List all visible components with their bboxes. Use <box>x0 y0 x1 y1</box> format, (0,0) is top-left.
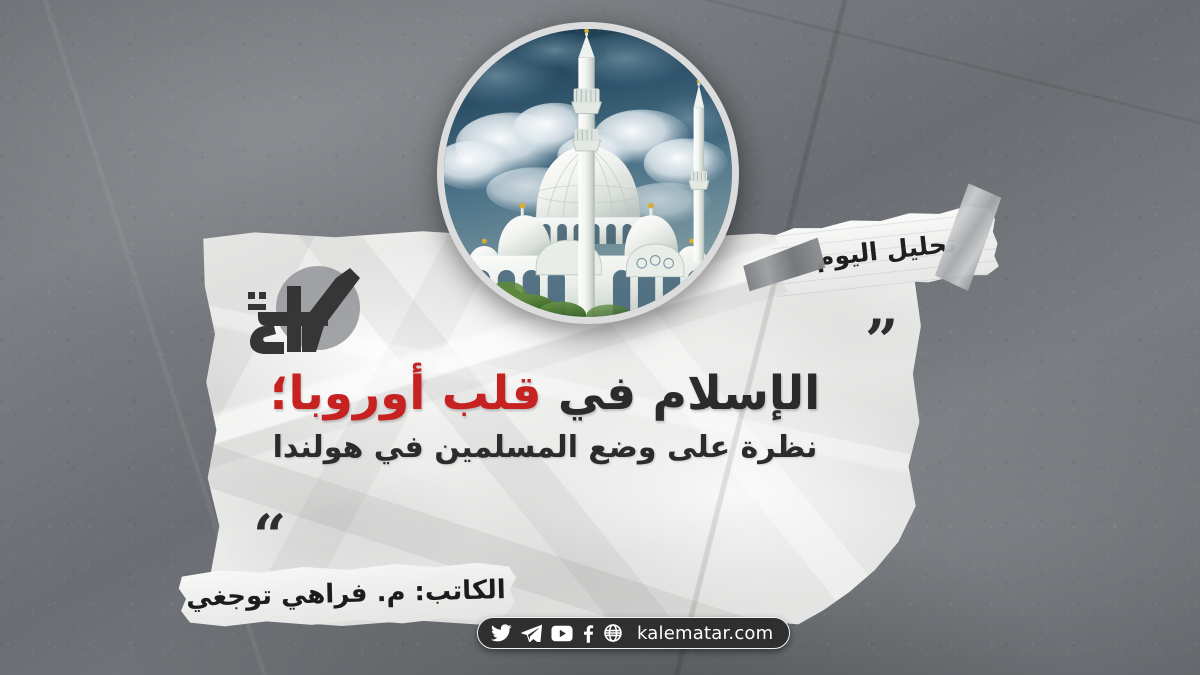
youtube-icon[interactable] <box>551 625 573 642</box>
author-byline-label: الكاتب: م. فراهي توجغي <box>171 558 521 632</box>
headline-part-accent: قلب أوروبا؛ <box>270 366 542 421</box>
mosque-image-frame <box>437 22 739 324</box>
footer-website-label[interactable]: kalematar.com <box>637 623 773 644</box>
headline-subtitle: نظرة على وضع المسلمين في هولندا <box>210 430 880 466</box>
telegram-icon[interactable] <box>521 624 542 642</box>
kalemat-logo-mark <box>232 252 380 364</box>
mosque-artwork <box>444 29 732 317</box>
twitter-icon[interactable] <box>491 624 512 642</box>
author-byline: الكاتب: م. فراهي توجغي <box>171 558 521 632</box>
poster-canvas: تحليل اليوم ” الإسلام في قلب أوروبا؛ نظر… <box>0 0 1200 675</box>
quote-close-icon: ” <box>865 312 898 370</box>
globe-icon[interactable] <box>603 623 623 643</box>
quote-open-icon: “ <box>253 507 286 565</box>
headline-part-dark: الإسلام في <box>541 366 820 421</box>
facebook-icon[interactable] <box>582 624 594 643</box>
headline-main-line: الإسلام في قلب أوروبا؛ <box>210 368 880 421</box>
mosque-illustration <box>444 29 732 317</box>
headline-block: الإسلام في قلب أوروبا؛ نظرة على وضع المس… <box>210 368 880 466</box>
footer-social-bar[interactable]: kalematar.com <box>477 617 790 649</box>
analysis-badge[interactable]: تحليل اليوم <box>769 201 1004 301</box>
kalemat-logo <box>232 252 380 364</box>
